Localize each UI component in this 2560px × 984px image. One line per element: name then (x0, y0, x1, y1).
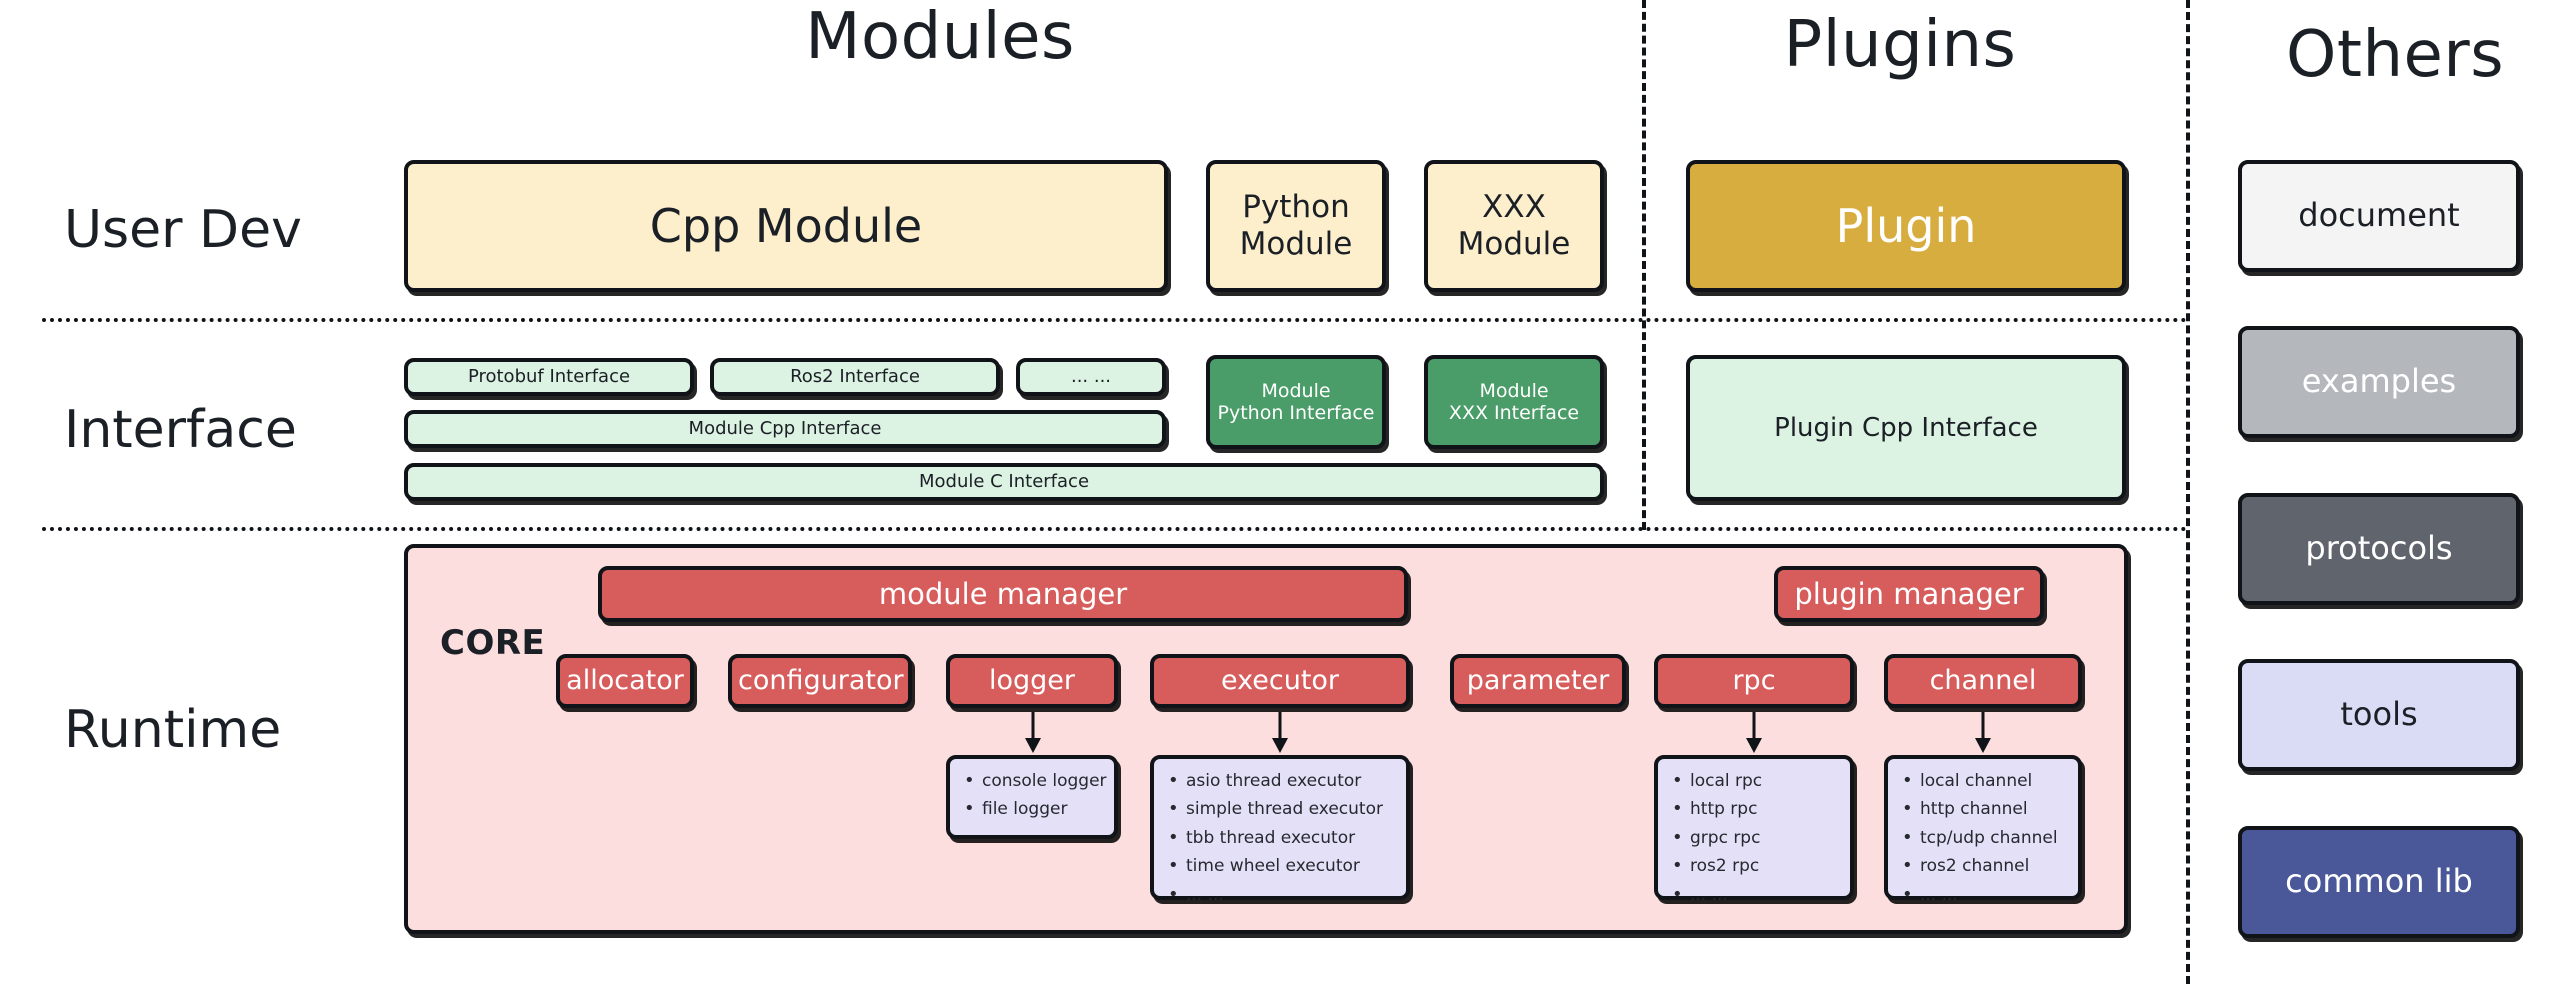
list-item: http rpc (1690, 799, 1840, 819)
node-module-xxx-interface[interactable]: Module XXX Interface (1424, 355, 1604, 449)
rpc-details-box: local rpc http rpc grpc rpc ros2 rpc ...… (1654, 755, 1854, 900)
node-xxx-module[interactable]: XXX Module (1424, 160, 1604, 292)
node-plugin-cpp-interface[interactable]: Plugin Cpp Interface (1686, 355, 2126, 501)
logger-details-box: console logger file logger (946, 755, 1118, 839)
node-plugin-manager[interactable]: plugin manager (1774, 566, 2044, 622)
node-module-cpp-interface[interactable]: Module Cpp Interface (404, 410, 1166, 448)
arrow-logger-to-details (1022, 712, 1044, 754)
node-ros2-interface[interactable]: Ros2 Interface (710, 358, 1000, 396)
channel-details-box: local channel http channel tcp/udp chann… (1884, 755, 2082, 900)
node-logger[interactable]: logger (946, 654, 1118, 708)
column-title-others: Others (2230, 18, 2560, 92)
column-title-modules: Modules (640, 0, 1240, 74)
node-common-lib[interactable]: common lib (2238, 826, 2520, 938)
node-channel[interactable]: channel (1884, 654, 2082, 708)
list-item: console logger (982, 771, 1104, 791)
node-module-manager[interactable]: module manager (598, 566, 1408, 622)
divider-interface-runtime (42, 527, 2188, 531)
list-item: local rpc (1690, 771, 1840, 791)
node-executor[interactable]: executor (1150, 654, 1410, 708)
node-tools[interactable]: tools (2238, 659, 2520, 771)
divider-plugins-others (2186, 0, 2190, 984)
list-item: http channel (1920, 799, 2068, 819)
list-item: ros2 channel (1920, 856, 2068, 876)
executor-details-box: asio thread executor simple thread execu… (1150, 755, 1410, 900)
row-label-interface: Interface (64, 400, 297, 460)
arrow-rpc-to-details (1743, 712, 1765, 754)
node-rpc[interactable]: rpc (1654, 654, 1854, 708)
arrow-channel-to-details (1972, 712, 1994, 754)
node-parameter[interactable]: parameter (1450, 654, 1626, 708)
list-item: tcp/udp channel (1920, 828, 2068, 848)
arrow-executor-to-details (1269, 712, 1291, 754)
row-label-runtime: Runtime (64, 700, 281, 760)
row-label-user-dev: User Dev (64, 200, 302, 260)
node-document[interactable]: document (2238, 160, 2520, 272)
node-python-module[interactable]: Python Module (1206, 160, 1386, 292)
divider-modules-plugins (1642, 0, 1646, 530)
node-protobuf-interface[interactable]: Protobuf Interface (404, 358, 694, 396)
list-item: local channel (1920, 771, 2068, 791)
list-item: grpc rpc (1690, 828, 1840, 848)
architecture-diagram: Modules Plugins Others User Dev Interfac… (0, 0, 2560, 984)
list-item: tbb thread executor (1186, 828, 1396, 848)
list-item: asio thread executor (1186, 771, 1396, 791)
node-module-python-interface[interactable]: Module Python Interface (1206, 355, 1386, 449)
list-item: ... ... (1186, 885, 1396, 905)
core-caption: CORE (440, 623, 545, 663)
node-configurator[interactable]: configurator (728, 654, 912, 708)
divider-userdev-interface (42, 318, 2188, 322)
node-examples[interactable]: examples (2238, 326, 2520, 438)
node-protocols[interactable]: protocols (2238, 493, 2520, 605)
column-title-plugins: Plugins (1690, 8, 2110, 82)
list-item: ... ... (1690, 885, 1840, 905)
node-plugin[interactable]: Plugin (1686, 160, 2126, 292)
list-item: simple thread executor (1186, 799, 1396, 819)
node-cpp-module[interactable]: Cpp Module (404, 160, 1168, 292)
list-item: file logger (982, 799, 1104, 819)
list-item: ... ... (1920, 885, 2068, 905)
node-allocator[interactable]: allocator (556, 654, 694, 708)
list-item: time wheel executor (1186, 856, 1396, 876)
node-module-c-interface[interactable]: Module C Interface (404, 463, 1604, 501)
node-more-interface[interactable]: ... ... (1016, 358, 1166, 396)
list-item: ros2 rpc (1690, 856, 1840, 876)
